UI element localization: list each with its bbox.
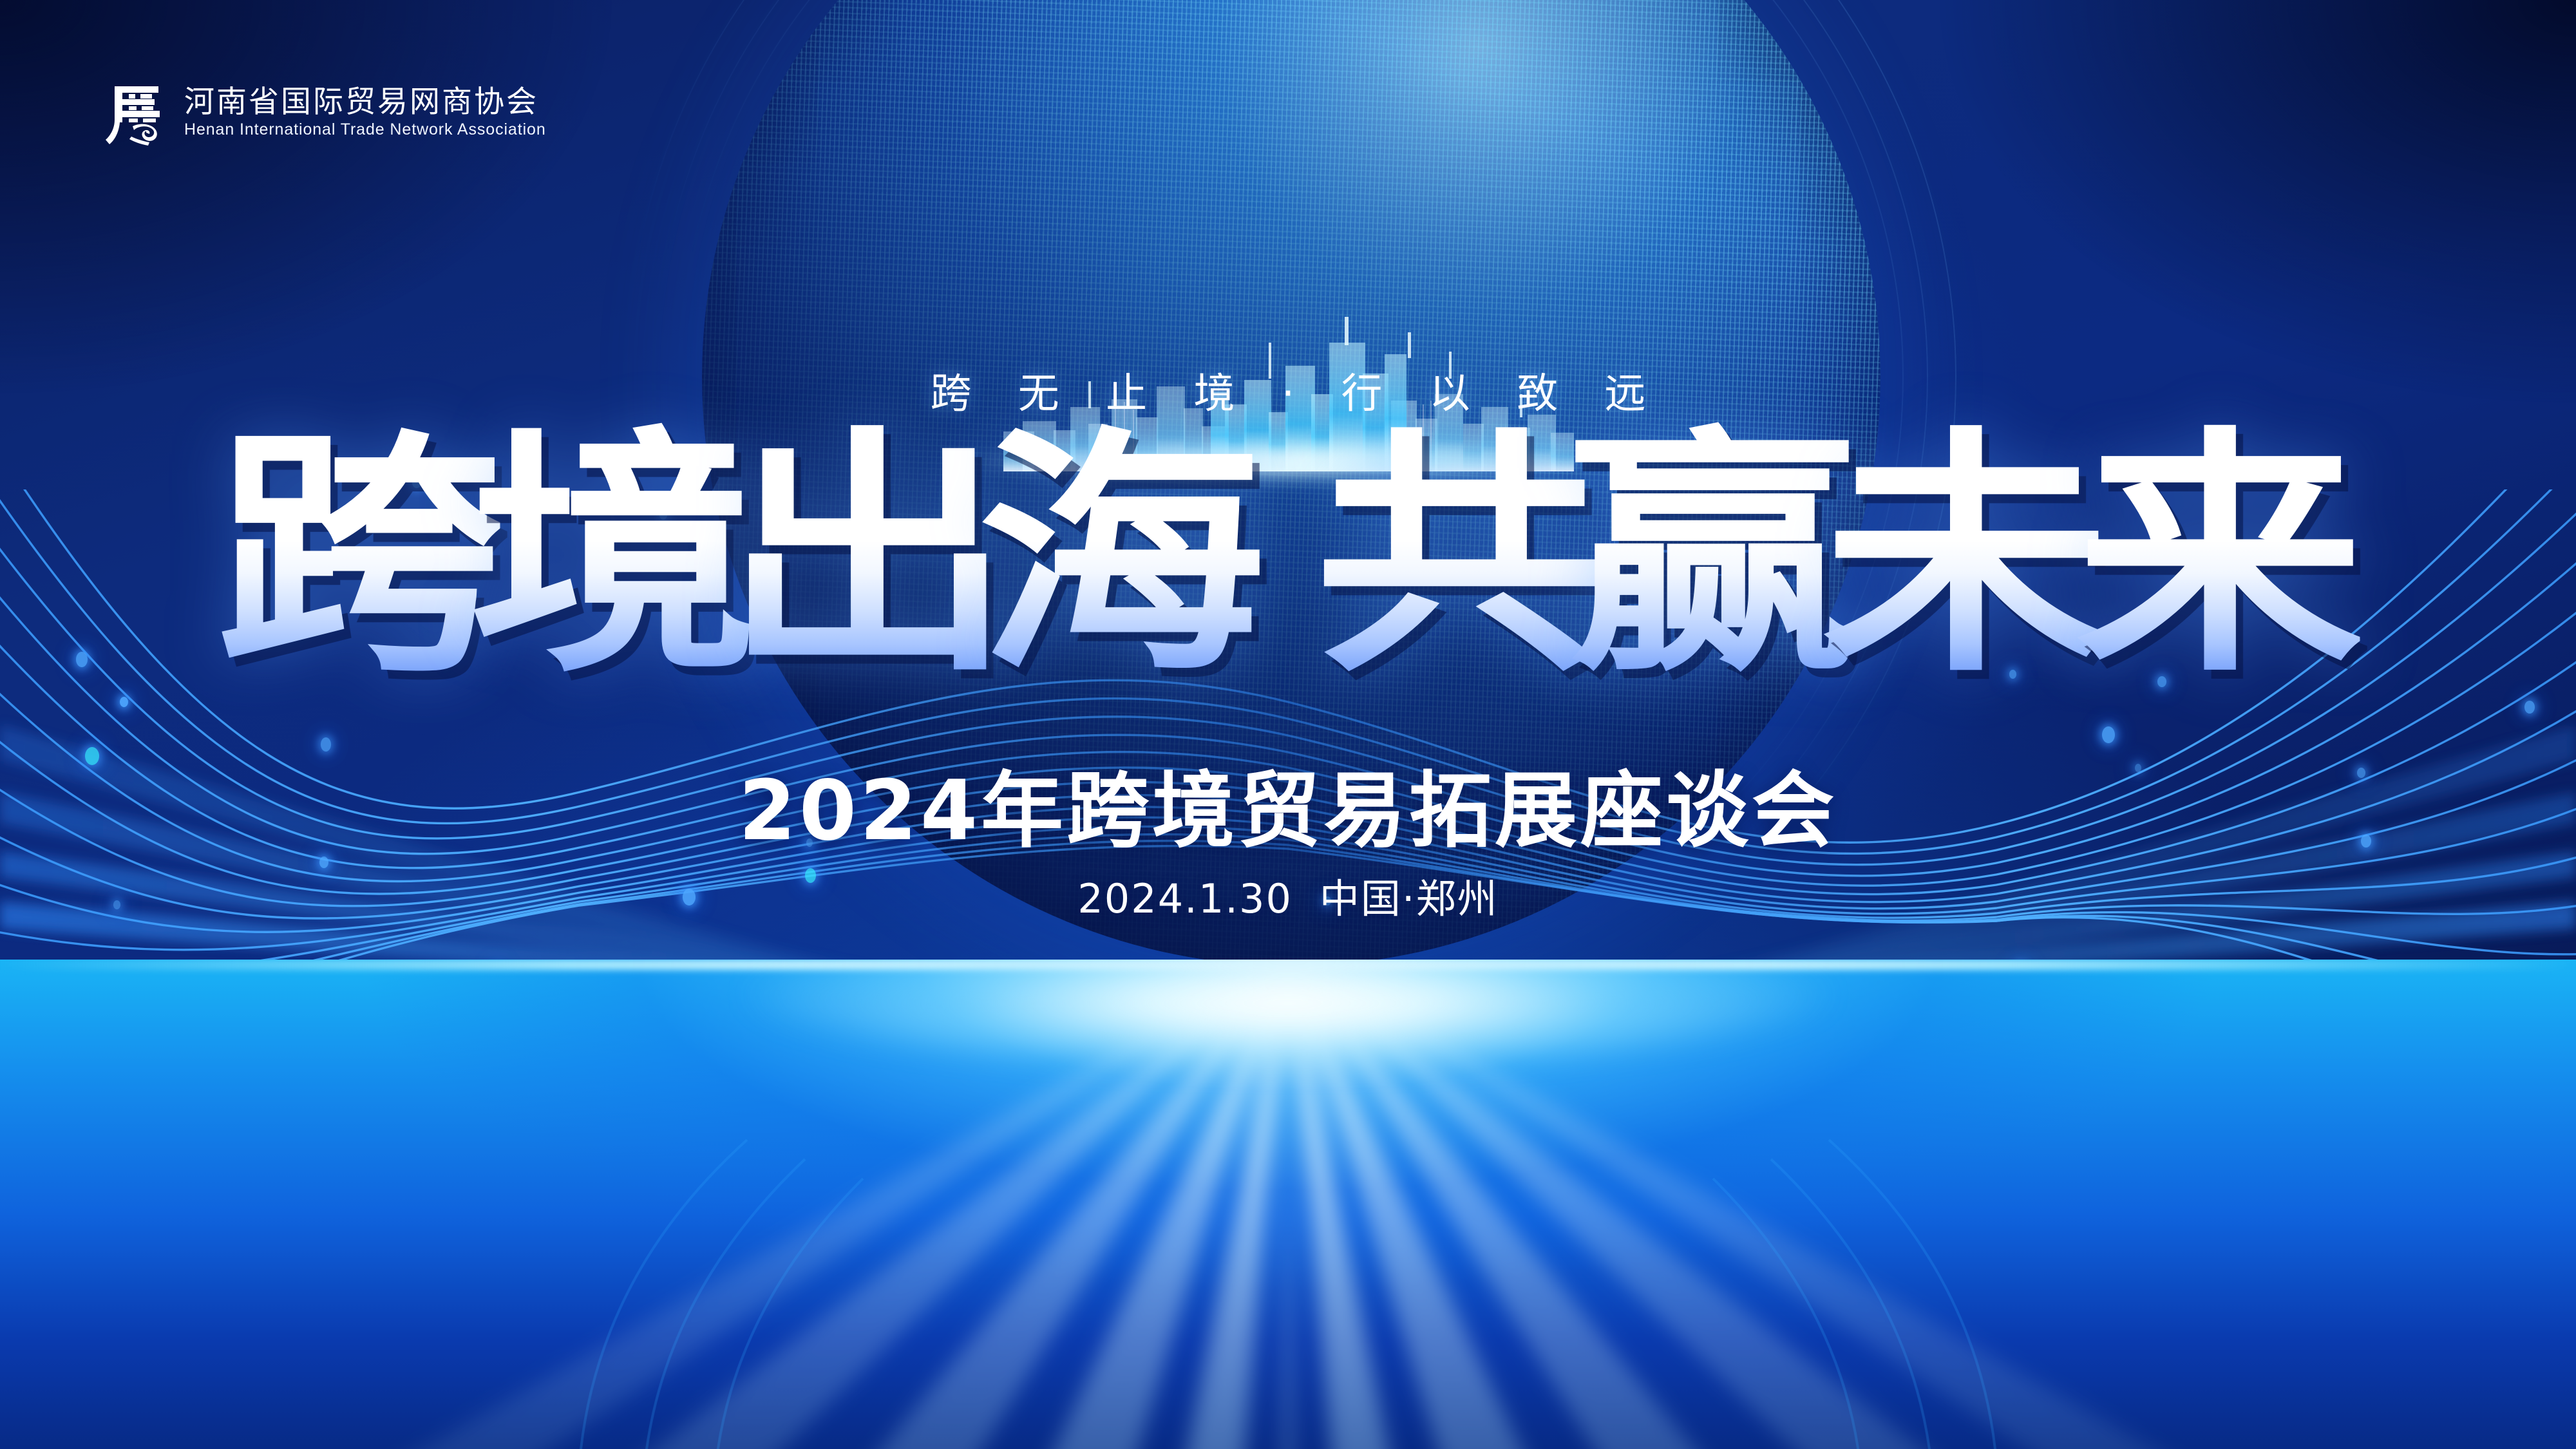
glow-particle — [2524, 701, 2535, 714]
glow-particle — [120, 697, 128, 707]
headline-char: 赢 — [1568, 422, 1852, 692]
headline-char: 来 — [2076, 422, 2360, 692]
headline-char: 海 — [977, 422, 1261, 692]
association-logo: 河南省国际贸易网商协会 Henan International Trade Ne… — [103, 77, 546, 147]
event-subtitle: 2024年跨境贸易拓展座谈会 — [0, 744, 2576, 863]
event-location: 中国·郑州 — [1320, 875, 1499, 922]
logo-text-block: 河南省国际贸易网商协会 Henan International Trade Ne… — [184, 86, 546, 138]
poster-canvas: 河南省国际贸易网商协会 Henan International Trade Ne… — [0, 0, 2576, 1449]
headline-part-1: 跨境出海 — [231, 422, 1246, 692]
headline-char: 出 — [723, 422, 1007, 692]
headline-part-2: 共赢未来 — [1330, 422, 2345, 692]
logo-mark-svg — [103, 77, 167, 147]
horizon-glow — [741, 960, 1835, 1063]
seal-script-emblem-icon — [103, 77, 167, 147]
logo-name-en: Henan International Trade Network Associ… — [184, 121, 546, 138]
headline-char: 共 — [1314, 422, 1598, 692]
event-date: 2024.1.30 — [1077, 875, 1293, 922]
radiating-light-rays-icon — [0, 960, 2576, 1449]
glow-particle — [2102, 726, 2115, 743]
headline-char: 未 — [1822, 422, 2106, 692]
headline-char: 跨 — [216, 422, 500, 692]
headline-char: 境 — [469, 422, 753, 692]
event-date-location: 2024.1.30中国·郑州 — [0, 866, 2576, 924]
logo-name-cn: 河南省国际贸易网商协会 — [184, 86, 546, 118]
headline: 跨境出海 共赢未来 — [0, 422, 2576, 692]
